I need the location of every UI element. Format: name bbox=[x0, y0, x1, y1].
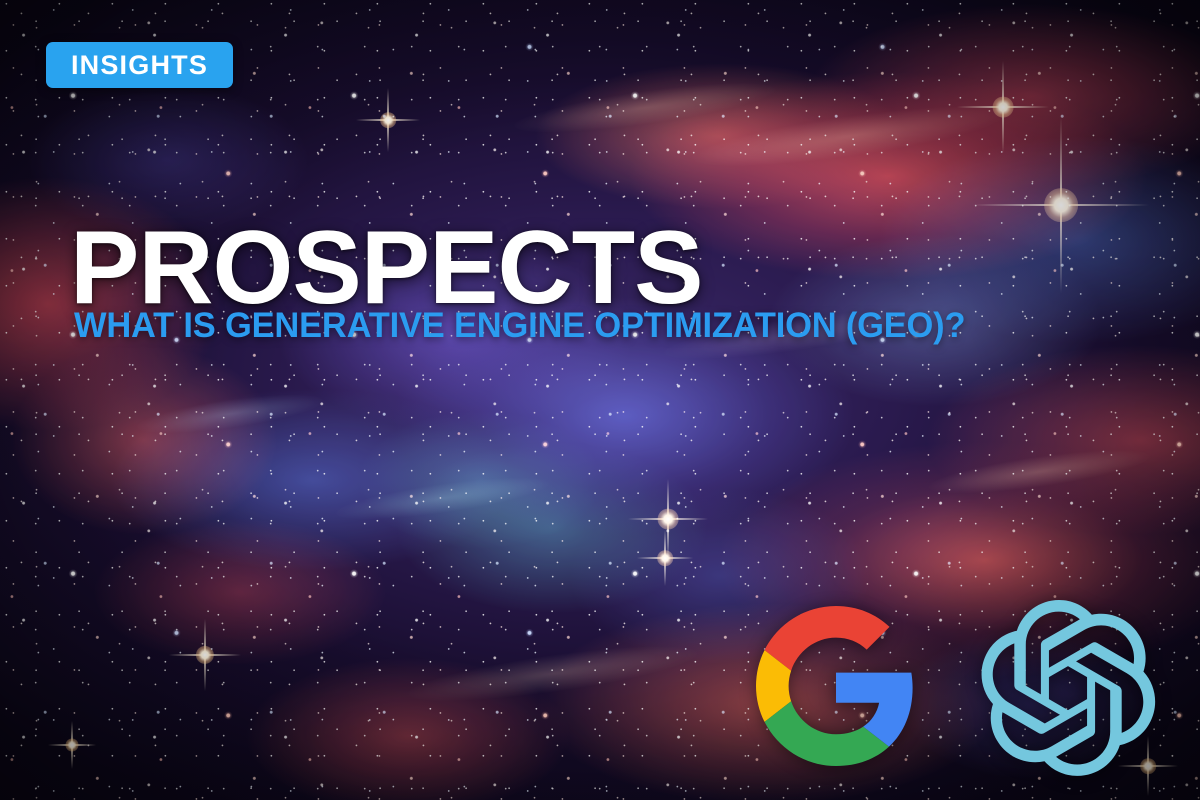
page-title: PROSPECTS bbox=[70, 216, 702, 320]
insights-badge-label: INSIGHTS bbox=[71, 52, 208, 79]
insights-badge[interactable]: INSIGHTS bbox=[46, 42, 233, 88]
banner-content: INSIGHTS PROSPECTS WHAT IS GENERATIVE EN… bbox=[0, 0, 1200, 800]
page-subtitle: WHAT IS GENERATIVE ENGINE OPTIMIZATION (… bbox=[74, 308, 965, 343]
logo-row bbox=[752, 600, 1162, 776]
openai-logo-icon bbox=[978, 600, 1158, 776]
google-logo-icon bbox=[752, 606, 920, 766]
banner-canvas: INSIGHTS PROSPECTS WHAT IS GENERATIVE EN… bbox=[0, 0, 1200, 800]
